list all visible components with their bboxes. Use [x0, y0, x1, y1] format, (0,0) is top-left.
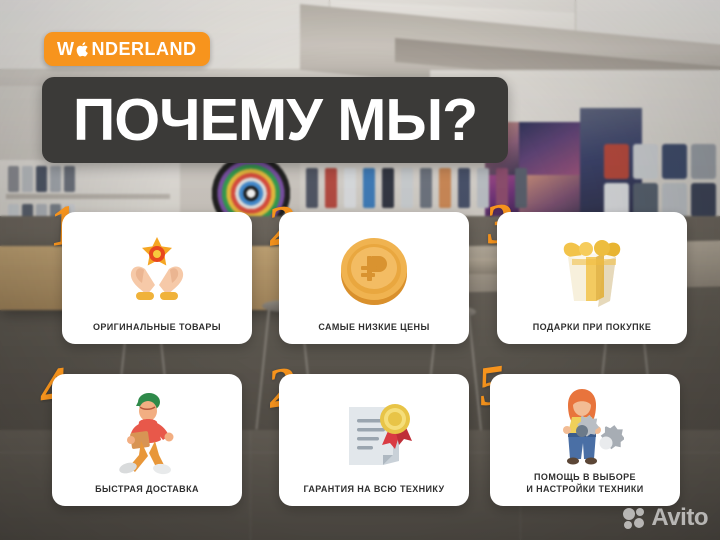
benefit-card-label: БЫСТРАЯ ДОСТАВКА: [52, 483, 242, 506]
benefit-card-lowest-prices[interactable]: САМЫЕ НИЗКИЕ ЦЕНЫ: [279, 212, 469, 344]
title-banner: ПОЧЕМУ МЫ?: [42, 77, 508, 163]
benefit-card-label: ГАРАНТИЯ НА ВСЮ ТЕХНИКУ: [279, 483, 469, 506]
gold-ruble-coin-icon: [279, 212, 469, 321]
benefit-card-fast-delivery[interactable]: БЫСТРАЯ ДОСТАВКА: [52, 374, 242, 506]
apple-icon: [76, 41, 91, 58]
gift-box-icon: [497, 212, 687, 321]
benefit-card-help-setup[interactable]: ПОМОЩЬ В ВЫБОРЕ И НАСТРОЙКИ ТЕХНИКИ: [490, 374, 680, 506]
avito-watermark: Avito: [622, 506, 708, 530]
benefit-card-original-goods[interactable]: ОРИГИНАЛЬНЫЕ ТОВАРЫ: [62, 212, 252, 344]
running-courier-icon: [52, 374, 242, 483]
benefit-card-label: ОРИГИНАЛЬНЫЕ ТОВАРЫ: [62, 321, 252, 344]
benefit-card-label: САМЫЕ НИЗКИЕ ЦЕНЫ: [279, 321, 469, 344]
brand-logo[interactable]: W NDERLAND: [44, 32, 210, 66]
logo-text-before: W: [57, 40, 75, 58]
certificate-medal-icon: [279, 374, 469, 483]
person-with-gears-icon: [490, 374, 680, 471]
page-title: ПОЧЕМУ МЫ?: [73, 91, 477, 150]
avito-watermark-text: Avito: [651, 506, 708, 530]
benefit-card-label: ПОДАРКИ ПРИ ПОКУПКЕ: [497, 321, 687, 344]
logo-text-after: NDERLAND: [92, 40, 197, 58]
avito-dots-icon: [622, 506, 646, 530]
benefit-card-gifts[interactable]: ПОДАРКИ ПРИ ПОКУПКЕ: [497, 212, 687, 344]
benefit-card-warranty[interactable]: ГАРАНТИЯ НА ВСЮ ТЕХНИКУ: [279, 374, 469, 506]
open-hands-sparkle-icon: [62, 212, 252, 321]
benefit-card-label: ПОМОЩЬ В ВЫБОРЕ И НАСТРОЙКИ ТЕХНИКИ: [490, 471, 680, 506]
